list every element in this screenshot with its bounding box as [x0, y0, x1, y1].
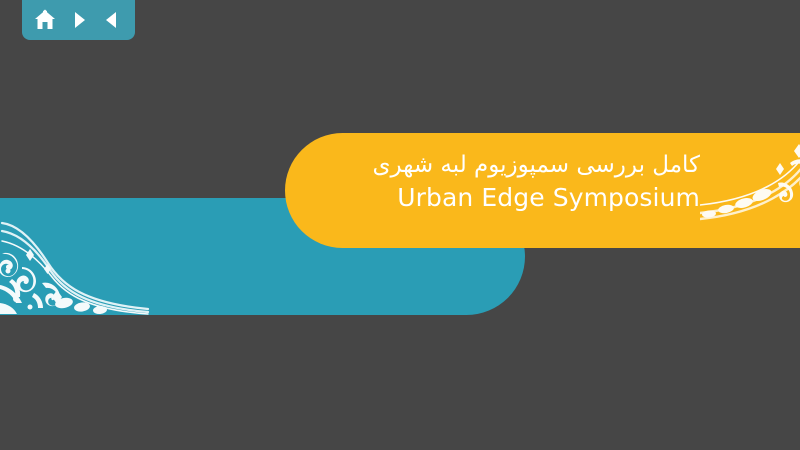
slide-navigation-bar	[22, 0, 135, 40]
presentation-slide: کامل بررسی سمپوزیوم لبه شهری Urban Edge …	[0, 0, 800, 450]
next-slide-button[interactable]	[65, 6, 93, 34]
arabesque-ornament-yellow	[700, 133, 800, 221]
yellow-title-band	[285, 133, 800, 248]
home-slide-button[interactable]	[31, 6, 59, 34]
arabesque-ornament-teal	[0, 215, 150, 315]
home-icon	[34, 9, 56, 31]
triangle-left-icon	[102, 10, 122, 30]
triangle-right-icon	[69, 10, 89, 30]
previous-slide-button[interactable]	[98, 6, 126, 34]
